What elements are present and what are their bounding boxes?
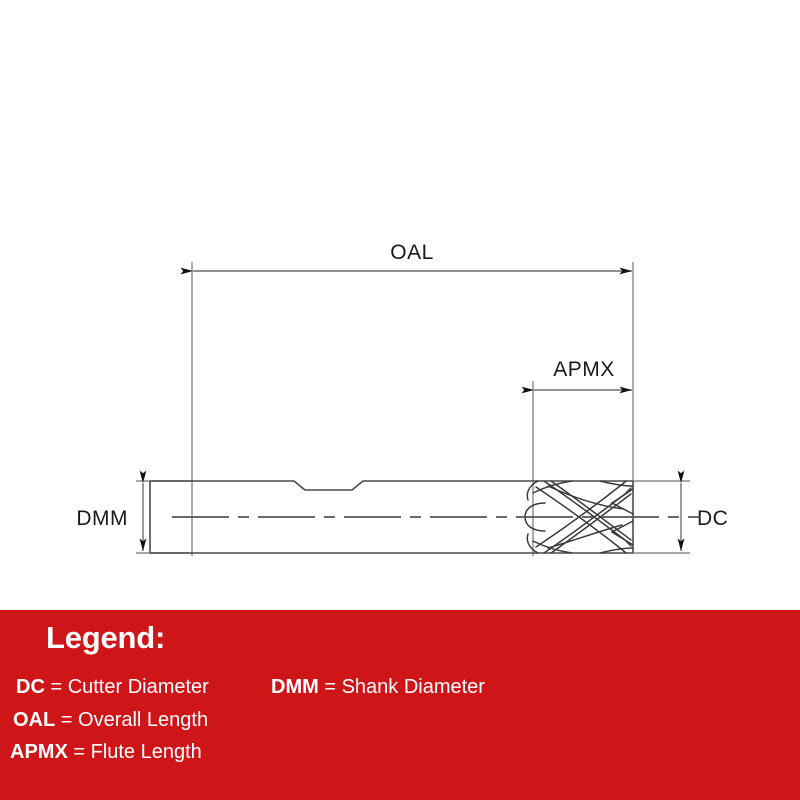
legend-entry-apmx: APMX = Flute Length xyxy=(10,741,202,764)
helix-edge-1b xyxy=(551,481,631,540)
legend-banner: Legend: DC = Cutter Diameter DMM = Shank… xyxy=(0,610,800,800)
legend-desc-apmx: Flute Length xyxy=(91,741,202,763)
dimension-label-apmx: APMX xyxy=(553,358,615,381)
dimension-label-dmm: DMM xyxy=(76,507,128,530)
legend-eq-apmx: = xyxy=(68,741,91,763)
legend-eq-dmm: = xyxy=(319,676,342,698)
legend-entry-dc: DC = Cutter Diameter xyxy=(16,676,209,699)
tip-gash-upper xyxy=(612,489,633,514)
technical-drawing-area: OAL APMX DMM DC xyxy=(0,0,800,610)
extension-lines xyxy=(192,262,633,556)
end-mill-drawing-svg: OAL APMX DMM DC xyxy=(0,0,800,610)
legend-abbr-dmm: DMM xyxy=(271,676,319,698)
legend-desc-oal: Overall Length xyxy=(78,709,208,731)
dimension-apmx: APMX xyxy=(534,358,632,390)
legend-eq-dc: = xyxy=(45,676,68,698)
legend-abbr-apmx: APMX xyxy=(10,741,68,763)
dimension-label-oal: OAL xyxy=(390,241,434,264)
legend-desc-dc: Cutter Diameter xyxy=(68,676,209,698)
legend-desc-dmm: Shank Diameter xyxy=(342,676,485,698)
dimension-label-dc: DC xyxy=(697,507,728,530)
legend-abbr-dc: DC xyxy=(16,676,45,698)
helix-edge-1c xyxy=(536,487,626,553)
helix-edge-2a xyxy=(544,488,631,553)
dimension-oal: OAL xyxy=(193,241,632,271)
legend-title: Legend: xyxy=(46,620,165,656)
legend-abbr-oal: OAL xyxy=(13,709,55,731)
legend-entry-oal: OAL = Overall Length xyxy=(13,709,208,732)
page-root: OAL APMX DMM DC xyxy=(0,0,800,800)
legend-eq-oal: = xyxy=(55,709,78,731)
legend-entry-dmm: DMM = Shank Diameter xyxy=(271,676,485,699)
